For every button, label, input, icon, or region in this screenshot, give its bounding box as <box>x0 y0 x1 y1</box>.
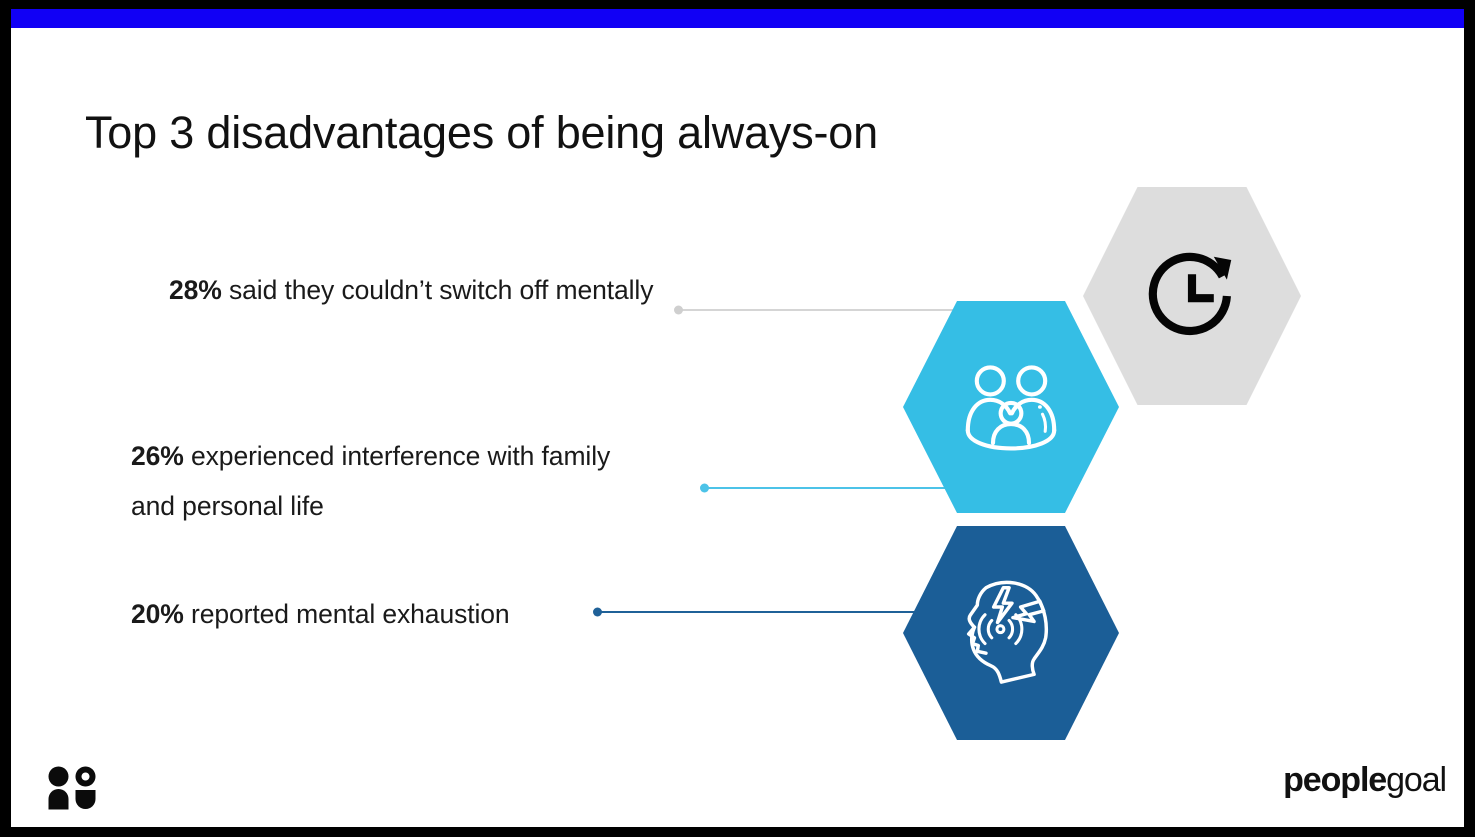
stat-percent-1: 28% <box>169 275 222 305</box>
stat-label-2: experienced interference with family and… <box>131 441 610 521</box>
top-accent-bar <box>11 9 1464 28</box>
clock-restore-icon <box>1138 242 1247 351</box>
stat-item-3: 20% reported mental exhaustion <box>131 589 661 639</box>
stat-percent-2: 26% <box>131 441 184 471</box>
connector-line-2-stroke <box>703 487 953 489</box>
stat-item-2: 26% experienced interference with family… <box>131 431 651 531</box>
wordmark-light: goal <box>1386 761 1446 799</box>
peoplegoal-wordmark: peoplegoal <box>1283 761 1446 800</box>
slide-frame: Top 3 disadvantages of being always-on 2… <box>0 0 1475 837</box>
hexagon-tile-family <box>903 301 1119 513</box>
stat-item-1: 28% said they couldn’t switch off mental… <box>169 265 669 315</box>
head-stress-icon <box>957 574 1065 691</box>
connector-line-3 <box>596 611 936 613</box>
connector-dot-2 <box>700 484 709 493</box>
slide-canvas: Top 3 disadvantages of being always-on 2… <box>11 9 1464 827</box>
wordmark-bold: people <box>1283 761 1386 799</box>
page-title: Top 3 disadvantages of being always-on <box>85 107 1185 159</box>
peoplegoal-logo-mark <box>47 766 97 810</box>
stat-label-3: reported mental exhaustion <box>184 599 510 629</box>
hexagon-tile-head-stress <box>903 526 1119 740</box>
connector-dot-3 <box>593 608 602 617</box>
family-group-icon <box>957 360 1065 454</box>
stat-label-1: said they couldn’t switch off mentally <box>222 275 654 305</box>
stat-percent-3: 20% <box>131 599 184 629</box>
connector-line-3-stroke <box>596 611 936 613</box>
connector-line-2 <box>703 487 953 489</box>
hexagon-tile-clock <box>1083 187 1301 405</box>
connector-dot-1 <box>674 306 683 315</box>
